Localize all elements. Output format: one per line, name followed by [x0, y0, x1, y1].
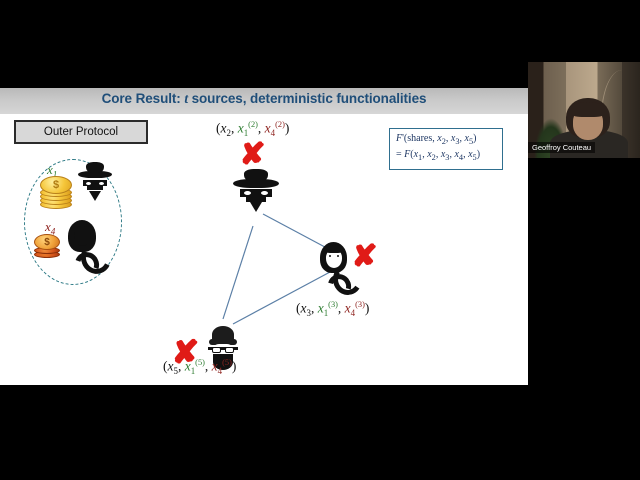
slide-body: Outer Protocol x1 $	[0, 114, 528, 385]
spy-figure-node-top	[233, 169, 279, 217]
node-right-label: (x3, x1(3), x4(3))	[296, 300, 369, 318]
slide-title-bar: Core Result: t sources, deterministic fu…	[0, 88, 528, 114]
slide-title-suffix: sources, deterministic functionalities	[192, 91, 427, 106]
node-bottom-label: (x5, x1(5), x4(5))	[163, 358, 236, 376]
red-x-icon-top: ✘	[240, 140, 265, 170]
shared-slide: Core Result: t sources, deterministic fu…	[0, 88, 528, 385]
slide-title-italic-var: t	[184, 91, 188, 106]
slide-title-prefix: Core Result:	[102, 91, 181, 106]
screen-share-stage: Core Result: t sources, deterministic fu…	[0, 0, 640, 480]
participant-name-badge: Geoffroy Couteau	[528, 142, 595, 153]
red-x-icon-right: ✘	[352, 242, 377, 272]
page-title: Core Result: t sources, deterministic fu…	[0, 91, 528, 107]
node-top-label: (x2, x1(2), x4(2))	[216, 120, 289, 138]
webcam-tile[interactable]: Geoffroy Couteau	[528, 62, 640, 158]
